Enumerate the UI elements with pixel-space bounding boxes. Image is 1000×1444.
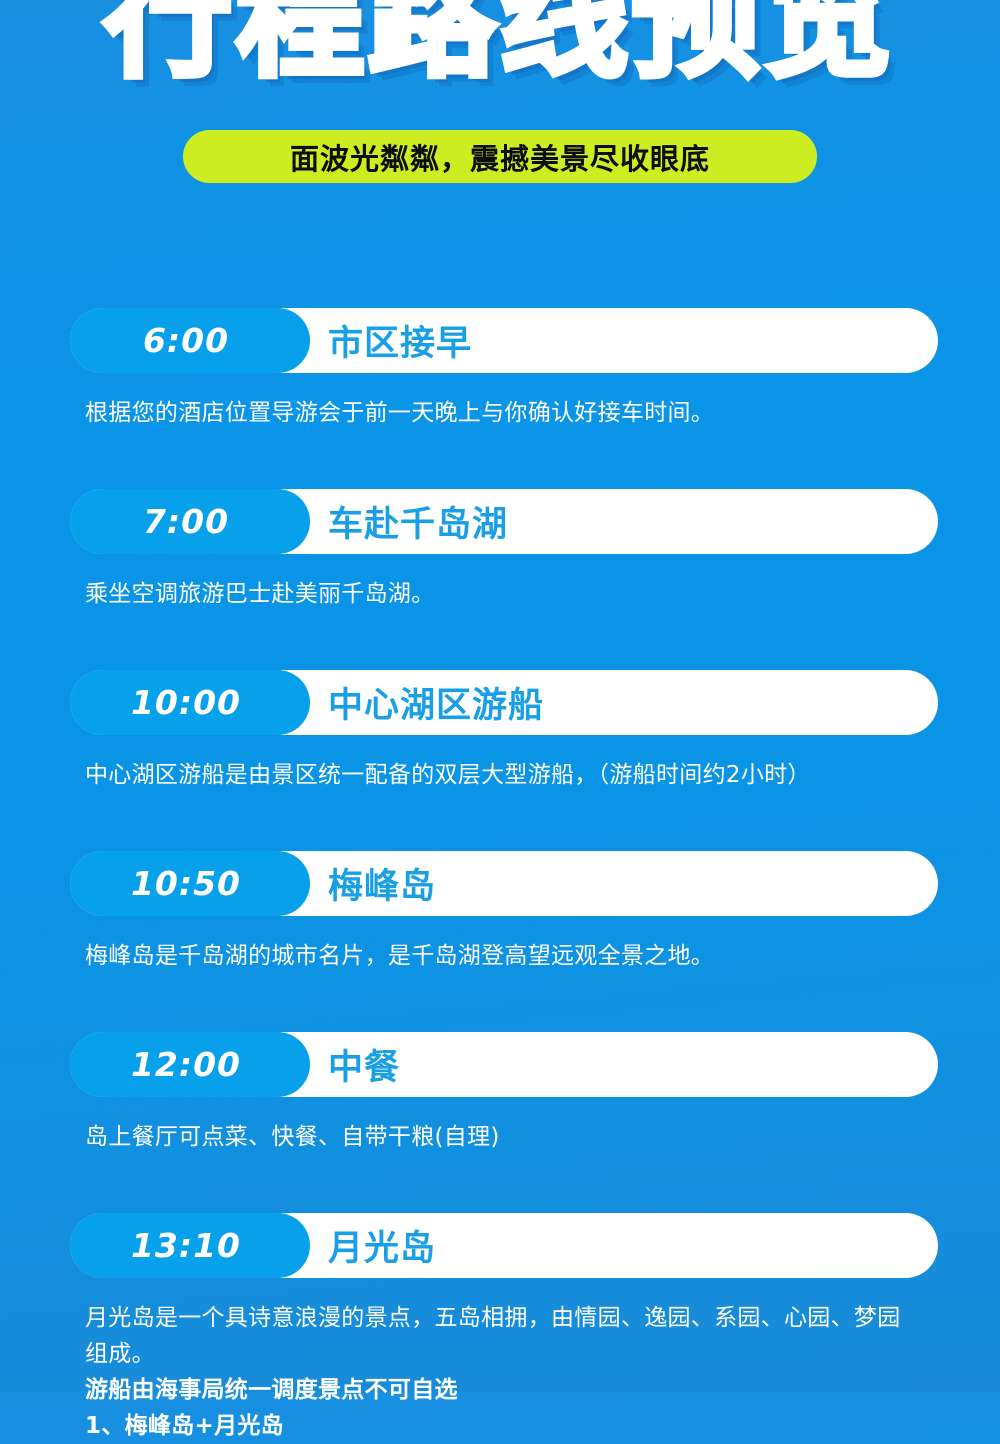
activity-title: 中心湖区游船 bbox=[328, 670, 544, 735]
timeline-item[interactable]: 6:00市区接早根据您的酒店位置导游会于前一天晚上与你确认好接车时间。 bbox=[0, 308, 1000, 431]
description-line: 游船由海事局统一调度景点不可自选 bbox=[85, 1372, 915, 1408]
activity-title: 月光岛 bbox=[328, 1213, 436, 1278]
timeline-row[interactable]: 13:10月光岛 bbox=[70, 1213, 938, 1278]
activity-description: 岛上餐厅可点菜、快餐、自带干粮(自理) bbox=[85, 1119, 915, 1155]
timeline-row[interactable]: 7:00车赴千岛湖 bbox=[70, 489, 938, 554]
activity-title: 市区接早 bbox=[328, 308, 472, 373]
timeline-item[interactable]: 10:50梅峰岛梅峰岛是千岛湖的城市名片，是千岛湖登高望远观全景之地。 bbox=[0, 851, 1000, 974]
activity-title: 车赴千岛湖 bbox=[328, 489, 508, 554]
description-line: 乘坐空调旅游巴士赴美丽千岛湖。 bbox=[85, 576, 915, 612]
itinerary-timeline: 6:00市区接早根据您的酒店位置导游会于前一天晚上与你确认好接车时间。7:00车… bbox=[0, 186, 1000, 1444]
description-line: 中心湖区游船是由景区统一配备的双层大型游船，（游船时间约2小时） bbox=[85, 757, 915, 793]
subtitle-badge: 面波光粼粼，震撼美景尽收眼底 bbox=[183, 130, 817, 183]
timeline-row[interactable]: 10:00中心湖区游船 bbox=[70, 670, 938, 735]
time-badge[interactable]: 13:10 bbox=[70, 1213, 310, 1278]
time-badge[interactable]: 10:50 bbox=[70, 851, 310, 916]
time-badge[interactable]: 12:00 bbox=[70, 1032, 310, 1097]
description-line: 月光岛是一个具诗意浪漫的景点，五岛相拥，由情园、逸园、系园、心园、梦园组成。 bbox=[85, 1300, 915, 1372]
activity-description: 月光岛是一个具诗意浪漫的景点，五岛相拥，由情园、逸园、系园、心园、梦园组成。游船… bbox=[85, 1300, 915, 1444]
subtitle-text: 面波光粼粼，震撼美景尽收眼底 bbox=[290, 136, 710, 178]
time-badge[interactable]: 10:00 bbox=[70, 670, 310, 735]
activity-description: 根据您的酒店位置导游会于前一天晚上与你确认好接车时间。 bbox=[85, 395, 915, 431]
time-badge[interactable]: 7:00 bbox=[70, 489, 310, 554]
page-header: 行程路线预览 面波光粼粼，震撼美景尽收眼底 bbox=[0, 0, 1000, 186]
activity-description: 中心湖区游船是由景区统一配备的双层大型游船，（游船时间约2小时） bbox=[85, 757, 915, 793]
time-label: 7:00 bbox=[143, 502, 229, 541]
timeline-item[interactable]: 10:00中心湖区游船中心湖区游船是由景区统一配备的双层大型游船，（游船时间约2… bbox=[0, 670, 1000, 793]
timeline-row[interactable]: 10:50梅峰岛 bbox=[70, 851, 938, 916]
activity-title: 梅峰岛 bbox=[328, 851, 436, 916]
time-label: 10:50 bbox=[131, 864, 241, 903]
time-label: 12:00 bbox=[131, 1045, 241, 1084]
timeline-item[interactable]: 13:10月光岛月光岛是一个具诗意浪漫的景点，五岛相拥，由情园、逸园、系园、心园… bbox=[0, 1213, 1000, 1444]
activity-title: 中餐 bbox=[328, 1032, 400, 1097]
timeline-item[interactable]: 12:00中餐岛上餐厅可点菜、快餐、自带干粮(自理) bbox=[0, 1032, 1000, 1155]
description-line: 梅峰岛是千岛湖的城市名片，是千岛湖登高望远观全景之地。 bbox=[85, 938, 915, 974]
description-line: 岛上餐厅可点菜、快餐、自带干粮(自理) bbox=[85, 1119, 915, 1155]
timeline-row[interactable]: 12:00中餐 bbox=[70, 1032, 938, 1097]
time-label: 6:00 bbox=[143, 321, 229, 360]
page-title: 行程路线预览 bbox=[0, 0, 1000, 90]
description-line: 根据您的酒店位置导游会于前一天晚上与你确认好接车时间。 bbox=[85, 395, 915, 431]
activity-description: 乘坐空调旅游巴士赴美丽千岛湖。 bbox=[85, 576, 915, 612]
timeline-item[interactable]: 7:00车赴千岛湖乘坐空调旅游巴士赴美丽千岛湖。 bbox=[0, 489, 1000, 612]
activity-description: 梅峰岛是千岛湖的城市名片，是千岛湖登高望远观全景之地。 bbox=[85, 938, 915, 974]
time-label: 13:10 bbox=[131, 1226, 241, 1265]
description-line: 1、梅峰岛+月光岛 bbox=[85, 1408, 915, 1444]
time-label: 10:00 bbox=[131, 683, 241, 722]
time-badge[interactable]: 6:00 bbox=[70, 308, 310, 373]
timeline-row[interactable]: 6:00市区接早 bbox=[70, 308, 938, 373]
